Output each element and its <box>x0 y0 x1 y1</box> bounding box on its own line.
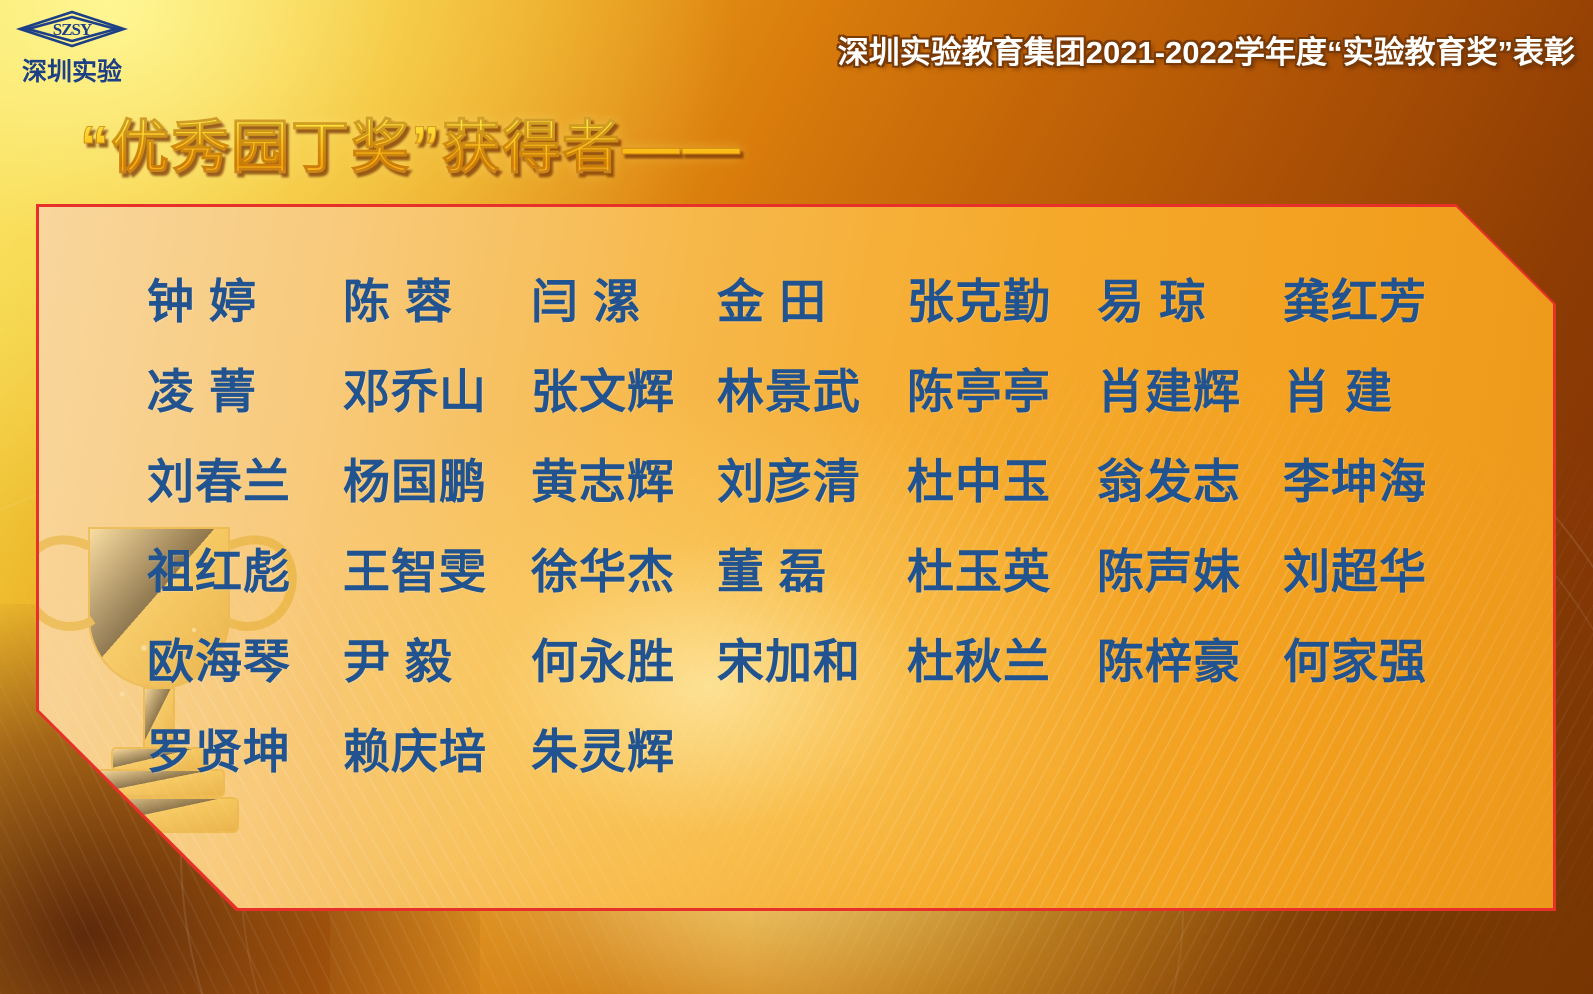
header-bar: SZSY 深 圳 实 验 深圳实验教育集团2021-2022学年度“实验教育奖”… <box>0 0 1593 92</box>
svg-text:实: 实 <box>72 57 97 86</box>
award-name: 易 琼 <box>1097 275 1207 328</box>
award-name: 张克勤 <box>907 275 1051 328</box>
award-name: 陈梓豪 <box>1097 635 1241 688</box>
award-name: 肖建辉 <box>1097 365 1241 418</box>
award-name: 黄志辉 <box>531 455 675 508</box>
table-row: 刘春兰 杨国鹏 黄志辉 刘彦清 杜中玉 翁发志 李坤海 <box>147 443 1477 533</box>
award-name: 罗贤坤 <box>147 725 291 778</box>
award-name: 李坤海 <box>1283 455 1427 508</box>
award-name: 刘彦清 <box>717 455 861 508</box>
award-name: 钟 婷 <box>147 275 257 328</box>
table-row: 祖红彪 王智雯 徐华杰 董 磊 杜玉英 陈声妹 刘超华 <box>147 533 1477 623</box>
award-name: 闫 漯 <box>531 275 641 328</box>
award-name: 王智雯 <box>343 545 487 598</box>
table-row: 罗贤坤 赖庆培 朱灵辉 <box>147 713 1477 803</box>
award-name: 赖庆培 <box>343 725 487 778</box>
award-name: 刘春兰 <box>147 455 291 508</box>
szsy-logo: SZSY 深 圳 实 验 <box>14 4 134 88</box>
award-name: 何家强 <box>1283 635 1427 688</box>
award-name: 欧海琴 <box>147 635 291 688</box>
award-name: 陈亭亭 <box>907 365 1051 418</box>
award-name: 林景武 <box>717 365 861 418</box>
svg-text:验: 验 <box>97 57 122 86</box>
award-name: 陈声妹 <box>1097 545 1241 598</box>
table-row: 钟 婷 陈 蓉 闫 漯 金 田 张克勤 易 琼 龚红芳 <box>147 263 1477 353</box>
award-name: 肖 建 <box>1283 365 1393 418</box>
award-name: 龚红芳 <box>1283 275 1427 328</box>
award-name: 杜秋兰 <box>907 635 1051 688</box>
award-list-panel: 钟 婷 陈 蓉 闫 漯 金 田 张克勤 易 琼 龚红芳 凌 菁 邓乔山 张文辉 … <box>36 204 1556 911</box>
award-name: 朱灵辉 <box>531 725 675 778</box>
award-name: 何永胜 <box>531 635 675 688</box>
award-name: 杜玉英 <box>907 545 1051 598</box>
award-name: 杜中玉 <box>907 455 1051 508</box>
award-name: 尹 毅 <box>343 635 453 688</box>
award-name: 陈 蓉 <box>343 275 453 328</box>
award-name: 翁发志 <box>1097 455 1241 508</box>
award-name: 祖红彪 <box>147 545 291 598</box>
award-name: 宋加和 <box>717 635 861 688</box>
award-name: 金 田 <box>717 275 827 328</box>
award-name: 刘超华 <box>1283 545 1427 598</box>
svg-text:深: 深 <box>22 58 47 86</box>
slide-root: SZSY 深 圳 实 验 深圳实验教育集团2021-2022学年度“实验教育奖”… <box>0 0 1593 994</box>
svg-text:圳: 圳 <box>47 58 72 86</box>
award-name: 杨国鹏 <box>343 455 487 508</box>
header-title: 深圳实验教育集团2021-2022学年度“实验教育奖”表彰 <box>838 27 1575 72</box>
award-name: 张文辉 <box>531 365 675 418</box>
award-name: 邓乔山 <box>343 365 487 418</box>
award-name: 徐华杰 <box>531 545 675 598</box>
award-name: 董 磊 <box>717 545 827 598</box>
table-row: 欧海琴 尹 毅 何永胜 宋加和 杜秋兰 陈梓豪 何家强 <box>147 623 1477 713</box>
award-name-grid: 钟 婷 陈 蓉 闫 漯 金 田 张克勤 易 琼 龚红芳 凌 菁 邓乔山 张文辉 … <box>147 263 1477 803</box>
award-list-panel-inner: 钟 婷 陈 蓉 闫 漯 金 田 张克勤 易 琼 龚红芳 凌 菁 邓乔山 张文辉 … <box>39 207 1553 908</box>
award-name: 凌 菁 <box>147 365 257 418</box>
page-title: “优秀园丁奖”获得者—— <box>80 100 742 184</box>
svg-text:SZSY: SZSY <box>53 20 92 39</box>
table-row: 凌 菁 邓乔山 张文辉 林景武 陈亭亭 肖建辉 肖 建 <box>147 353 1477 443</box>
